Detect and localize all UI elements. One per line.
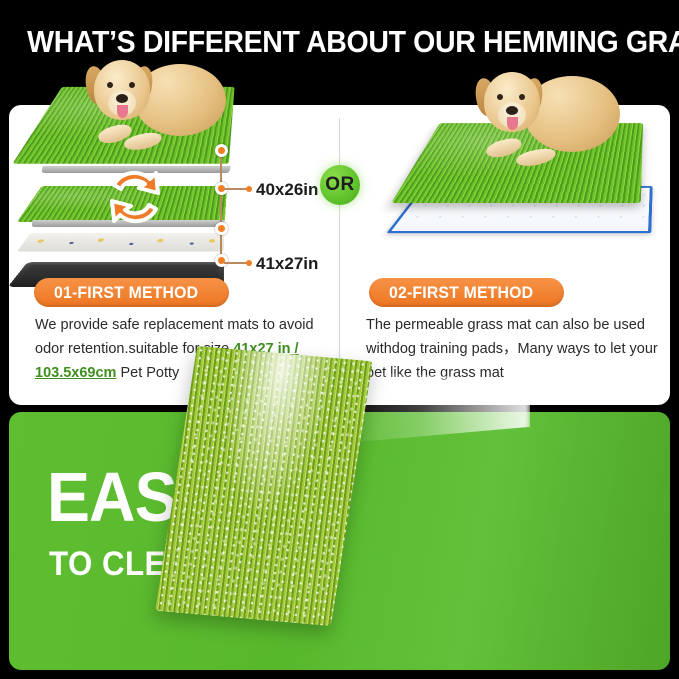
method-text-01-tail: Pet Potty	[116, 365, 179, 381]
page-title: WHAT’S DIFFERENT ABOUT OUR HEMMING GRASS…	[27, 24, 652, 60]
or-badge-label: OR	[325, 174, 355, 196]
product-photo-right	[400, 72, 666, 262]
callout-leader-dot-bottom	[246, 260, 252, 266]
pee-pad-pattern	[17, 233, 225, 252]
dimension-label-top: 40x26in	[256, 180, 318, 200]
method-badge-01-label: 01-FIRST METHOD	[54, 283, 198, 303]
callout-leader-bottom	[224, 262, 248, 264]
callout-connector-vertical	[220, 150, 222, 262]
recycle-arrows-icon	[100, 163, 170, 231]
callout-leader-top	[224, 188, 248, 190]
card-divider	[339, 118, 340, 390]
infographic-canvas: WHAT’S DIFFERENT ABOUT OUR HEMMING GRASS…	[0, 0, 679, 679]
method-badge-02-label: 02-FIRST METHOD	[389, 283, 533, 303]
dimension-label-bottom: 41x27in	[256, 254, 318, 274]
callout-dot-1	[215, 144, 228, 157]
dog-golden-retriever-right	[462, 68, 622, 190]
or-badge: OR	[320, 165, 360, 205]
method-badge-01: 01-FIRST METHOD	[34, 278, 229, 307]
callout-leader-dot-top	[246, 186, 252, 192]
method-badge-02: 02-FIRST METHOD	[369, 278, 564, 307]
dog-golden-retriever-left	[74, 60, 224, 172]
method-text-02: The permeable grass mat can also be used…	[366, 313, 658, 385]
mat-layer-pee-pad	[17, 233, 225, 252]
callout-dot-3	[215, 222, 228, 235]
callout-dot-4	[215, 254, 228, 267]
